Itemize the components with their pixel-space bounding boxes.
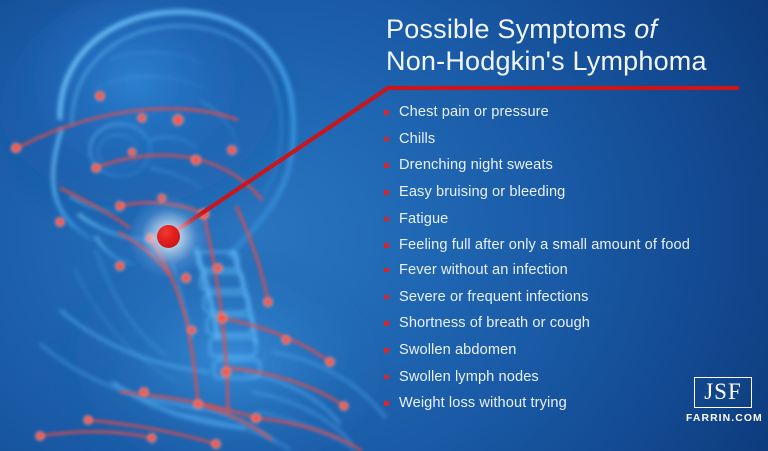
list-item: Easy bruising or bleeding — [382, 184, 752, 202]
bullet-icon — [384, 243, 389, 248]
list-item-label: Chills — [399, 131, 435, 147]
bullet-icon — [384, 217, 389, 222]
bullet-icon — [384, 401, 389, 406]
list-item-label: Severe or frequent infections — [399, 289, 588, 305]
list-item: Shortness of breath or cough — [382, 315, 752, 333]
bullet-icon — [384, 163, 389, 168]
list-item-label: Swollen lymph nodes — [399, 369, 539, 385]
bullet-icon — [384, 321, 389, 326]
logo-monogram: JSF — [694, 377, 752, 408]
list-item: Fatigue — [382, 211, 752, 229]
list-item: Chest pain or pressure — [382, 104, 752, 122]
bullet-icon — [384, 268, 389, 273]
page-title-line1: Possible Symptoms — [386, 14, 634, 44]
list-item-label: Drenching night sweats — [399, 157, 553, 173]
list-item-label: Fatigue — [399, 211, 448, 227]
list-item: Chills — [382, 131, 752, 149]
list-item-label: Chest pain or pressure — [399, 104, 549, 120]
infographic-root: Possible Symptoms of Non-Hodgkin's Lymph… — [0, 0, 768, 451]
logo-domain: FARRIN.COM — [686, 413, 760, 424]
list-item: Severe or frequent infections — [382, 289, 752, 307]
list-item: Drenching night sweats — [382, 157, 752, 175]
brand-logo[interactable]: JSF FARRIN.COM — [686, 377, 760, 424]
bullet-icon — [384, 137, 389, 142]
list-item-label: Feeling full after only a small amount o… — [399, 237, 690, 253]
bullet-icon — [384, 295, 389, 300]
bullet-icon — [384, 348, 389, 353]
list-item-label: Easy bruising or bleeding — [399, 184, 565, 200]
bullet-icon — [384, 110, 389, 115]
list-item-label: Swollen abdomen — [399, 342, 517, 358]
list-item: Fever without an infection — [382, 262, 752, 280]
anatomy-illustration — [0, 0, 420, 451]
page-title: Possible Symptoms of Non-Hodgkin's Lymph… — [386, 13, 762, 77]
anatomy-svg — [0, 0, 420, 451]
list-item-label: Shortness of breath or cough — [399, 315, 590, 331]
symptom-list: Chest pain or pressure Chills Drenching … — [382, 104, 752, 422]
list-item: Swollen abdomen — [382, 342, 752, 360]
list-item-label: Weight loss without trying — [399, 395, 567, 411]
page-title-line1-italic: of — [634, 14, 657, 44]
list-item-label: Fever without an infection — [399, 262, 568, 278]
page-title-line2: Non-Hodgkin's Lymphoma — [386, 45, 762, 77]
bullet-icon — [384, 375, 389, 380]
list-item: Feeling full after only a small amount o… — [382, 237, 752, 255]
highlighted-lymph-node-marker — [157, 225, 180, 248]
bullet-icon — [384, 190, 389, 195]
